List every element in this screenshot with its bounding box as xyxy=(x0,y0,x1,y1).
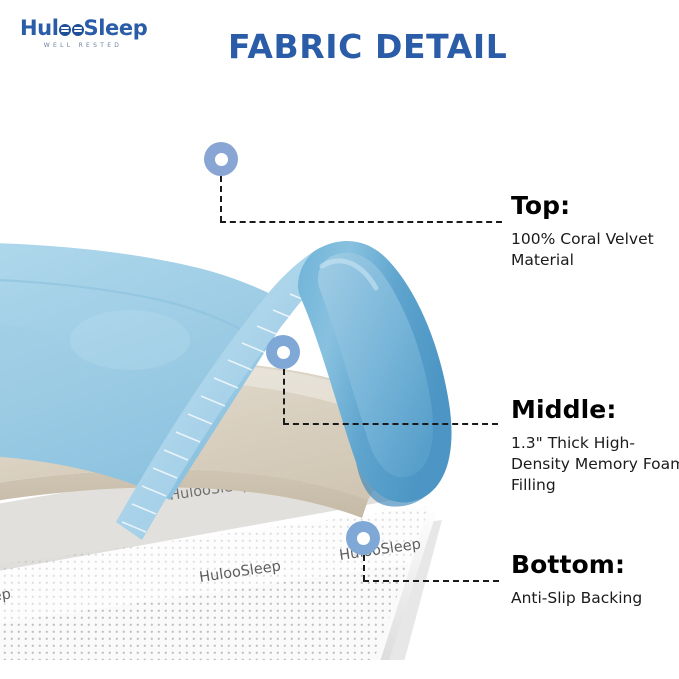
sleeping-eye-left-icon xyxy=(59,24,71,36)
leader-line-middle-vertical xyxy=(283,369,285,424)
callout-bottom: Bottom: Anti-Slip Backing xyxy=(511,551,679,609)
leader-line-top-horizontal xyxy=(220,221,502,223)
brand-name-part1: Hul xyxy=(20,18,59,39)
callout-marker-middle[interactable] xyxy=(266,335,300,369)
leader-line-bottom-horizontal xyxy=(363,580,499,582)
page-title: FABRIC DETAIL xyxy=(228,27,507,66)
brand-logo: Hul Sleep WELL RESTED xyxy=(20,18,170,49)
leader-line-middle-horizontal xyxy=(283,423,498,425)
leader-line-bottom-vertical xyxy=(363,555,365,581)
callout-marker-bottom[interactable] xyxy=(346,521,380,555)
brand-name-part2: Sleep xyxy=(84,18,148,39)
callout-marker-top[interactable] xyxy=(204,142,238,176)
callout-top-body: 100% Coral Velvet Material xyxy=(511,229,679,271)
sleeping-eye-right-icon xyxy=(72,24,84,36)
callout-middle: Middle: 1.3" Thick High-Density Memory F… xyxy=(511,396,679,496)
leader-line-top-vertical xyxy=(220,176,222,222)
brand-tagline: WELL RESTED xyxy=(20,42,146,49)
callout-top: Top: 100% Coral Velvet Material xyxy=(511,192,679,271)
brand-wordmark: Hul Sleep xyxy=(20,18,170,39)
sleeping-eyes-icon xyxy=(59,24,84,36)
callout-middle-body: 1.3" Thick High-Density Memory Foam Fill… xyxy=(511,433,679,496)
callout-top-heading: Top: xyxy=(511,192,679,220)
callout-bottom-body: Anti-Slip Backing xyxy=(511,588,679,609)
infographic-canvas: Hul Sleep WELL RESTED FABRIC DETAIL xyxy=(0,0,679,679)
callout-bottom-heading: Bottom: xyxy=(511,551,679,579)
callout-middle-heading: Middle: xyxy=(511,396,679,424)
